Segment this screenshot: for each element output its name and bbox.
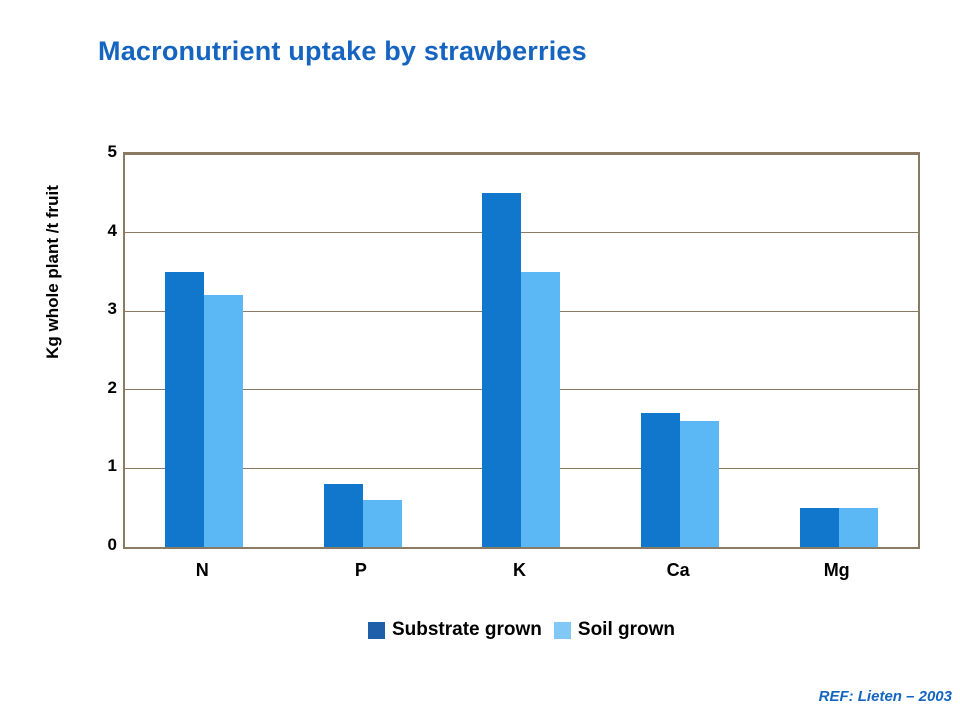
legend-swatch — [368, 622, 385, 639]
bar — [680, 421, 719, 547]
x-axis-tick-label: K — [440, 560, 599, 581]
legend-swatch — [554, 622, 571, 639]
bar — [521, 272, 560, 547]
x-axis-tick-label: P — [282, 560, 441, 581]
legend-item[interactable]: Soil grown — [554, 619, 675, 641]
y-axis-tick-label: 2 — [77, 379, 117, 396]
y-axis-tick-label: 0 — [77, 536, 117, 553]
legend-label: Substrate grown — [392, 619, 542, 641]
legend-item[interactable]: Substrate grown — [368, 619, 542, 641]
plot-area — [123, 152, 920, 549]
bar-group — [125, 154, 284, 547]
x-axis-tick-label: Mg — [757, 560, 916, 581]
chart-legend: Substrate grownSoil grown — [123, 617, 920, 643]
page-title: Macronutrient uptake by strawberries — [98, 36, 587, 67]
y-axis-tick-label: 3 — [77, 300, 117, 317]
y-axis-title: Kg whole plant /t fruit — [43, 142, 63, 402]
bar — [800, 508, 839, 547]
y-axis-ticks: 012345 — [73, 152, 117, 549]
bar-group — [759, 154, 918, 547]
bar — [324, 484, 363, 547]
bar — [641, 413, 680, 547]
bar-group — [442, 154, 601, 547]
x-axis-tick-label: N — [123, 560, 282, 581]
reference-note: REF: Lieten – 2003 — [819, 688, 952, 705]
x-axis-ticks: NPKCaMg — [123, 560, 920, 584]
bar-series-container — [125, 154, 918, 547]
bar — [482, 193, 521, 547]
bar — [165, 272, 204, 547]
bar — [204, 295, 243, 547]
slide-canvas: Macronutrient uptake by strawberries Kg … — [0, 0, 960, 720]
bar — [363, 500, 402, 547]
y-axis-tick-label: 1 — [77, 457, 117, 474]
bar — [839, 508, 878, 547]
legend-label: Soil grown — [578, 619, 675, 641]
bar-group — [284, 154, 443, 547]
y-axis-tick-label: 4 — [77, 222, 117, 239]
y-axis-tick-label: 5 — [77, 143, 117, 160]
bar-group — [601, 154, 760, 547]
x-axis-tick-label: Ca — [599, 560, 758, 581]
